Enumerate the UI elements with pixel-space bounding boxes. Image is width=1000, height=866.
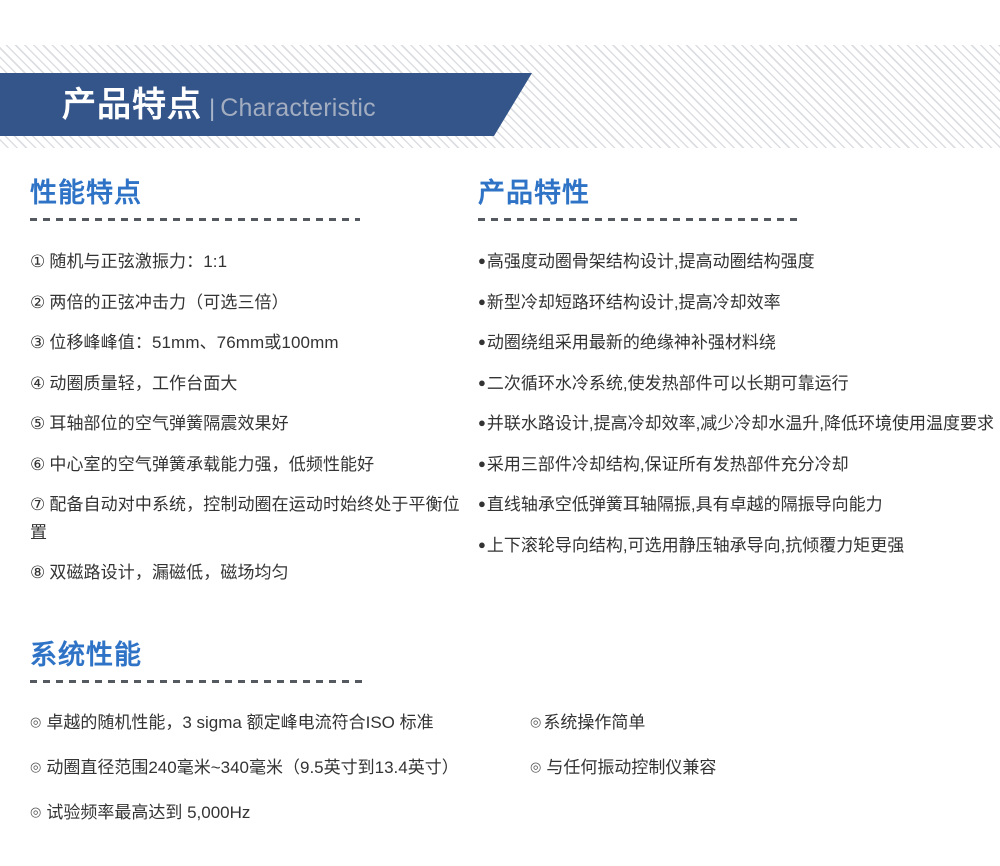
- list-item: ⑥中心室的空气弹簧承载能力强，低频性能好: [30, 451, 470, 479]
- system-performance-heading-divider: [30, 680, 362, 683]
- list-item: ②两倍的正弦冲击力（可选三倍）: [30, 289, 470, 317]
- list-item-text: 中心室的空气弹簧承载能力强，低频性能好: [49, 455, 374, 474]
- system-row-left-text: 动圈直径范围240毫米~340毫米（9.5英寸到13.4英寸）: [46, 758, 458, 777]
- list-item: ①随机与正弦激振力：1:1: [30, 248, 470, 276]
- list-item: ⑦配备自动对中系统，控制动圈在运动时始终处于平衡位置: [30, 491, 470, 546]
- list-item: ⑧双磁路设计，漏磁低，磁场均匀: [30, 559, 470, 587]
- banner-title-chinese: 产品特点: [62, 88, 202, 122]
- list-item: ●并联水路设计,提高冷却效率,减少冷却水温升,降低环境使用温度要求: [478, 410, 1000, 438]
- banner-title-english: Characteristic: [220, 96, 376, 121]
- ring-bullet-icon: ◎: [530, 714, 541, 729]
- list-item-text: 上下滚轮导向结构,可选用静压轴承导向,抗倾覆力矩更强: [487, 536, 904, 555]
- list-item-text: 动圈绕组采用最新的绝缘神补强材料绕: [487, 333, 776, 352]
- list-item: ●上下滚轮导向结构,可选用静压轴承导向,抗倾覆力矩更强: [478, 532, 1000, 560]
- list-item: ●新型冷却短路环结构设计,提高冷却效率: [478, 289, 1000, 317]
- bullet-icon: ●: [478, 415, 486, 430]
- list-item-text: 并联水路设计,提高冷却效率,减少冷却水温升,降低环境使用温度要求: [487, 414, 994, 433]
- bullet-icon: ●: [478, 294, 486, 309]
- list-item: ●二次循环水冷系统,使发热部件可以长期可靠运行: [478, 370, 1000, 398]
- ring-bullet-icon: ◎: [30, 714, 41, 729]
- list-marker: ④: [30, 374, 45, 393]
- list-marker: ⑥: [30, 455, 45, 474]
- system-performance-rows: ◎卓越的随机性能，3 sigma 额定峰电流符合ISO 标准 ◎系统操作简单 ◎…: [30, 709, 1000, 827]
- performance-heading-divider: [30, 218, 360, 221]
- system-row-right: ◎与任何振动控制仪兼容: [530, 754, 716, 781]
- ring-bullet-icon: ◎: [30, 759, 41, 774]
- list-item: ⑤耳轴部位的空气弹簧隔震效果好: [30, 410, 470, 438]
- product-features-section-heading: 产品特性: [478, 178, 1000, 209]
- banner-separator: |: [209, 97, 215, 121]
- product-features-heading-divider: [478, 218, 798, 221]
- list-marker: ⑤: [30, 414, 45, 433]
- list-item-text: 二次循环水冷系统,使发热部件可以长期可靠运行: [487, 374, 849, 393]
- ring-bullet-icon: ◎: [530, 759, 541, 774]
- list-item-text: 动圈质量轻，工作台面大: [49, 374, 237, 393]
- bullet-icon: ●: [478, 456, 486, 471]
- performance-section-heading: 性能特点: [30, 178, 470, 209]
- list-marker: ①: [30, 252, 45, 271]
- system-row-right: [530, 799, 535, 826]
- list-item-text: 高强度动圈骨架结构设计,提高动圈结构强度: [487, 252, 815, 271]
- system-performance-heading: 系统性能: [30, 640, 1000, 671]
- system-row-left: ◎卓越的随机性能，3 sigma 额定峰电流符合ISO 标准: [30, 709, 530, 736]
- list-marker: ⑧: [30, 563, 45, 582]
- list-marker: ②: [30, 293, 45, 312]
- bullet-icon: ●: [478, 537, 486, 552]
- list-item-text: 位移峰峰值：51mm、76mm或100mm: [49, 333, 338, 352]
- list-item: ●采用三部件冷却结构,保证所有发热部件充分冷却: [478, 451, 1000, 479]
- list-item: ●高强度动圈骨架结构设计,提高动圈结构强度: [478, 248, 1000, 276]
- list-item-text: 直线轴承空低弹簧耳轴隔振,具有卓越的隔振导向能力: [487, 495, 883, 514]
- table-row: ◎卓越的随机性能，3 sigma 额定峰电流符合ISO 标准 ◎系统操作简单: [30, 709, 1000, 736]
- product-feature-list: ●高强度动圈骨架结构设计,提高动圈结构强度 ●新型冷却短路环结构设计,提高冷却效…: [478, 248, 1000, 559]
- table-row: ◎试验频率最高达到 5,000Hz: [30, 799, 1000, 826]
- system-row-right: ◎系统操作简单: [530, 709, 645, 736]
- list-item-text: 两倍的正弦冲击力（可选三倍）: [49, 293, 288, 312]
- bullet-icon: ●: [478, 496, 486, 511]
- list-item-text: 随机与正弦激振力：1:1: [49, 252, 227, 271]
- system-row-right-text: 与任何振动控制仪兼容: [546, 758, 716, 777]
- system-row-left-text: 试验频率最高达到 5,000Hz: [46, 803, 250, 822]
- system-row-right-text: 系统操作简单: [543, 713, 645, 732]
- product-features-column: 产品特性 ●高强度动圈骨架结构设计,提高动圈结构强度 ●新型冷却短路环结构设计,…: [470, 178, 1000, 600]
- list-item-text: 配备自动对中系统，控制动圈在运动时始终处于平衡位置: [30, 495, 460, 542]
- list-marker: ③: [30, 333, 45, 352]
- performance-feature-list: ①随机与正弦激振力：1:1 ②两倍的正弦冲击力（可选三倍） ③位移峰峰值：51m…: [30, 248, 470, 587]
- list-item-text: 采用三部件冷却结构,保证所有发热部件充分冷却: [487, 455, 849, 474]
- system-row-left-text: 卓越的随机性能，3 sigma 额定峰电流符合ISO 标准: [46, 713, 433, 732]
- bullet-icon: ●: [478, 375, 486, 390]
- ring-bullet-icon: ◎: [30, 804, 41, 819]
- list-item-text: 耳轴部位的空气弹簧隔震效果好: [49, 414, 288, 433]
- bullet-icon: ●: [478, 253, 486, 268]
- page-header-banner: 产品特点 | Characteristic: [0, 73, 532, 136]
- features-columns: 性能特点 ①随机与正弦激振力：1:1 ②两倍的正弦冲击力（可选三倍） ③位移峰峰…: [0, 178, 1000, 600]
- performance-features-column: 性能特点 ①随机与正弦激振力：1:1 ②两倍的正弦冲击力（可选三倍） ③位移峰峰…: [0, 178, 470, 600]
- list-item: ●直线轴承空低弹簧耳轴隔振,具有卓越的隔振导向能力: [478, 491, 1000, 519]
- list-item-text: 新型冷却短路环结构设计,提高冷却效率: [487, 293, 781, 312]
- system-performance-section: 系统性能 ◎卓越的随机性能，3 sigma 额定峰电流符合ISO 标准 ◎系统操…: [0, 640, 1000, 845]
- list-item: ●动圈绕组采用最新的绝缘神补强材料绕: [478, 329, 1000, 357]
- list-item-text: 双磁路设计，漏磁低，磁场均匀: [49, 563, 288, 582]
- list-marker: ⑦: [30, 495, 45, 514]
- list-item: ④动圈质量轻，工作台面大: [30, 370, 470, 398]
- system-row-left: ◎动圈直径范围240毫米~340毫米（9.5英寸到13.4英寸）: [30, 754, 530, 781]
- bullet-icon: ●: [478, 334, 486, 349]
- table-row: ◎动圈直径范围240毫米~340毫米（9.5英寸到13.4英寸） ◎与任何振动控…: [30, 754, 1000, 781]
- banner-text-group: 产品特点 | Characteristic: [0, 88, 376, 122]
- system-row-left: ◎试验频率最高达到 5,000Hz: [30, 799, 530, 826]
- list-item: ③位移峰峰值：51mm、76mm或100mm: [30, 329, 470, 357]
